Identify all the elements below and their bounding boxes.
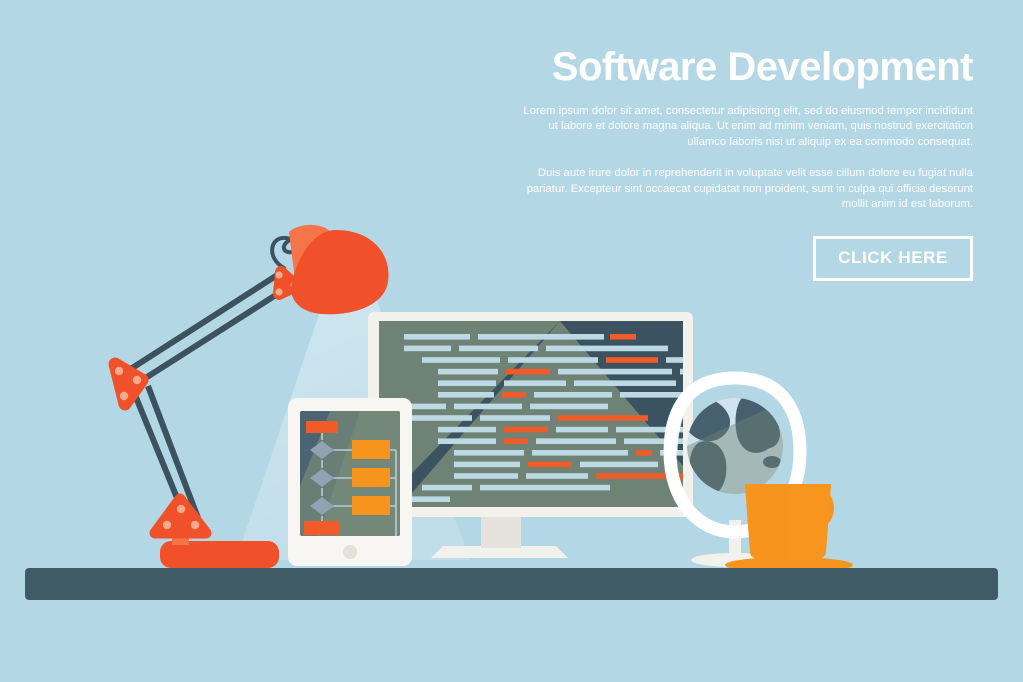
code-line-segment [404,334,470,340]
code-line-segment [454,404,522,410]
code-line-segment [506,369,550,375]
code-line-segment [422,357,500,363]
code-line-segment [459,346,538,352]
code-line-segment [438,380,496,386]
code-line-segment [480,485,610,491]
intro-paragraph-2: Duis aute irure dolor in reprehenderit i… [523,166,973,212]
code-line-segment [606,357,658,363]
code-line-segment [454,462,520,468]
code-line-segment [558,369,672,375]
lamp-base [160,541,279,568]
code-line-segment [556,427,608,433]
code-line-segment [422,485,472,491]
code-line-segment [534,392,612,398]
desk [25,568,998,600]
tablet-device [280,398,412,566]
code-line-segment [404,346,451,352]
header-text-block: Software Development Lorem ipsum dolor s… [523,44,973,281]
illustration-stage: Software Development Lorem ipsum dolor s… [0,0,1023,682]
code-line-segment [438,369,498,375]
code-line-segment [610,334,636,340]
code-line-segment [504,438,528,444]
flow-process-right-3 [352,496,390,515]
code-line-segment [480,415,550,421]
code-line-segment [478,334,604,340]
code-line-segment [580,462,658,468]
page-title: Software Development [523,44,973,90]
code-line-segment [574,380,676,386]
code-line-segment [528,462,572,468]
code-line-segment [454,473,518,479]
code-line-segment [454,450,524,456]
code-line-segment [438,427,496,433]
code-line-segment [502,392,526,398]
code-line-segment [438,438,496,444]
click-here-button[interactable]: CLICK HERE [813,236,973,281]
monitor-stand-neck [481,512,521,548]
flow-process-left [304,521,340,535]
code-line-segment [438,392,494,398]
code-line-segment [504,380,566,386]
code-line-segment [504,427,548,433]
tablet-home-button[interactable] [343,545,357,559]
code-line-segment [636,450,652,456]
code-line-segment [508,357,598,363]
code-line-segment [558,415,648,421]
code-line-segment [532,450,628,456]
intro-paragraph-1: Lorem ipsum dolor sit amet, consectetur … [523,104,973,150]
flow-process-right-1 [352,440,390,459]
code-line-segment [530,404,608,410]
code-line-segment [404,415,472,421]
flow-process-right-2 [352,468,390,487]
code-line-segment [596,473,698,479]
code-line-segment [526,473,588,479]
flow-start-node [306,421,338,433]
code-line-segment [536,438,616,444]
code-line-segment [546,346,668,352]
